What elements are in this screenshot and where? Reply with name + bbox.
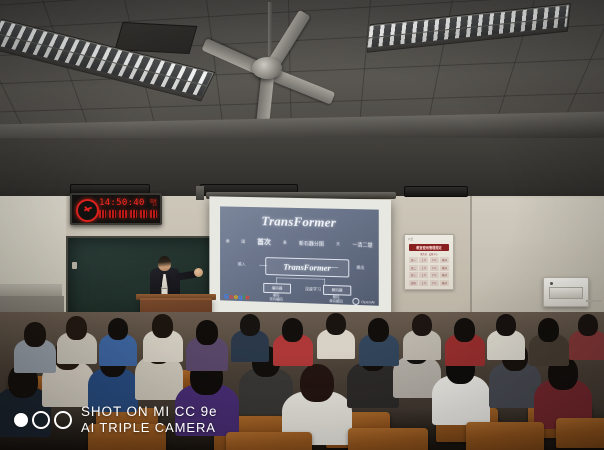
- presenter-head: [158, 256, 171, 271]
- clock-icon: [76, 199, 99, 222]
- poster-cell: 周一: [409, 257, 418, 263]
- led-subtext: 温度 25: [150, 199, 157, 207]
- poster-cell: 周三: [409, 272, 418, 278]
- audience-member-head: [496, 314, 516, 336]
- unit-slot: [549, 287, 583, 299]
- led-sub-line2: 25: [150, 203, 157, 207]
- poster-cell: 晚间: [440, 257, 449, 263]
- ceiling: [0, 0, 604, 205]
- led-time: 14:50:40: [99, 198, 145, 208]
- poster-cell: 上午: [419, 265, 428, 271]
- projection-screen: TransFormer 美国首次黄新石器分国天一清二楚 输入 输出 TransF…: [209, 196, 391, 323]
- audience-member-head: [454, 318, 475, 342]
- audience-member-head: [578, 314, 598, 336]
- lecture-hall-photo: 14:50:40 温度 25 TransFormer 美国首次黄新石器分国天一清…: [0, 0, 604, 450]
- chalkboard-clip: [72, 262, 77, 269]
- poster-header: 教室使用管理规定: [409, 244, 449, 251]
- logo-letter: G: [224, 293, 229, 300]
- wall-poster: 公告 教室使用管理规定 教务处 · 设备中心 周一上午下午晚间周二上午下午晚间周…: [404, 234, 454, 290]
- logo-letter: e: [246, 294, 250, 301]
- audience-member-head: [108, 318, 128, 340]
- slide-keyword-row: 美国首次黄新石器分国天一清二楚: [226, 236, 373, 250]
- audience-member-head: [538, 318, 559, 342]
- auditorium-chair-front: [226, 432, 312, 450]
- led-clock-sign: 14:50:40 温度 25: [70, 193, 162, 225]
- slide-keyword: 国: [241, 239, 245, 244]
- watermark-line1: SHOT ON MI CC 9e: [81, 404, 217, 420]
- audience-member-head: [152, 314, 173, 338]
- audience-member-head: [240, 314, 260, 336]
- audience-member-head: [326, 313, 346, 335]
- circle-brand-icon: [353, 298, 360, 305]
- projected-slide: TransFormer 美国首次黄新石器分国天一清二楚 输入 输出 TransF…: [220, 206, 379, 305]
- poster-cell: 晚间: [440, 265, 449, 271]
- led-scroll-row: [99, 210, 157, 218]
- poster-cell: 周二: [409, 265, 418, 271]
- poster-cell: 下午: [430, 265, 439, 271]
- watermark-dot-filled: [14, 413, 28, 427]
- poster-cell: 周四: [409, 280, 418, 286]
- slide-keyword: 首次: [257, 237, 271, 247]
- poster-cell: 上午: [419, 280, 428, 286]
- audience-member-head: [282, 318, 303, 342]
- google-logo: Google: [224, 293, 250, 301]
- watermark-dots-icon: [14, 411, 72, 429]
- audience-member-head: [24, 322, 46, 347]
- unit-indicator-icon: [550, 282, 553, 285]
- poster-cell: 上午: [419, 272, 428, 278]
- camera-watermark: SHOT ON MI CC 9e AI TRIPLE CAMERA: [14, 404, 217, 436]
- presenter-lanyard: [161, 276, 170, 287]
- audience-member-head: [196, 320, 218, 345]
- slide-mid-caption: 深度学习: [305, 286, 321, 293]
- auditorium-chair-front: [348, 428, 428, 450]
- audience-member-head: [368, 318, 389, 342]
- wall-speaker-right: [404, 186, 468, 197]
- slide-title: TransFormer: [220, 212, 379, 232]
- poster-cell: 下午: [430, 257, 439, 263]
- audience-member-head: [412, 314, 432, 336]
- slide-keyword: 天: [336, 241, 340, 246]
- fan-hub: [252, 57, 282, 79]
- poster-grid: 周一上午下午晚间周二上午下午晚间周三上午下午晚间周四上午下午晚间: [409, 257, 449, 286]
- ceiling-tile-row: [0, 0, 604, 7]
- slide-right-label: 输出: [356, 265, 364, 271]
- watermark-line2: AI TRIPLE CAMERA: [81, 420, 217, 436]
- poster-cell: 晚间: [440, 272, 449, 278]
- poster-cell: 上午: [419, 257, 428, 263]
- auditorium-chair-front: [556, 418, 604, 448]
- slide-keyword: 美: [226, 239, 230, 244]
- watermark-dot-ring: [32, 411, 50, 429]
- logo-letter: o: [234, 294, 238, 301]
- poster-cell: 下午: [430, 280, 439, 286]
- logo-letter: g: [238, 294, 242, 301]
- wall-cable: [586, 300, 602, 302]
- presenter-hand: [194, 268, 203, 277]
- screen-mount: [196, 186, 204, 200]
- slide-keyword: 黄: [283, 240, 287, 245]
- brand-text: OpenAI: [361, 300, 374, 304]
- poster-top-note: 公告: [408, 237, 413, 241]
- slide-keyword: 一清二楚: [352, 241, 372, 249]
- poster-cell: 下午: [430, 272, 439, 278]
- watermark-dot-ring: [54, 411, 72, 429]
- slide-subcap-left: 编码双向编码: [261, 293, 291, 303]
- brand-mark: OpenAI: [353, 298, 375, 306]
- logo-letter: o: [229, 294, 233, 301]
- slide-subcap-right: 解码单向解码: [321, 295, 351, 305]
- audience-member-head: [300, 364, 334, 402]
- poster-subheader: 教务处 · 设备中心: [409, 252, 449, 256]
- slide-keyword: 新石器分国: [299, 239, 324, 247]
- auditorium-chair-front: [466, 422, 544, 450]
- poster-cell: 晚间: [440, 280, 449, 286]
- audience-member-head: [66, 316, 87, 340]
- slide-left-label: 输入: [238, 261, 246, 267]
- watermark-text: SHOT ON MI CC 9e AI TRIPLE CAMERA: [81, 404, 217, 436]
- ceiling-fan: [214, 30, 344, 110]
- wall-mounted-unit: [543, 277, 589, 307]
